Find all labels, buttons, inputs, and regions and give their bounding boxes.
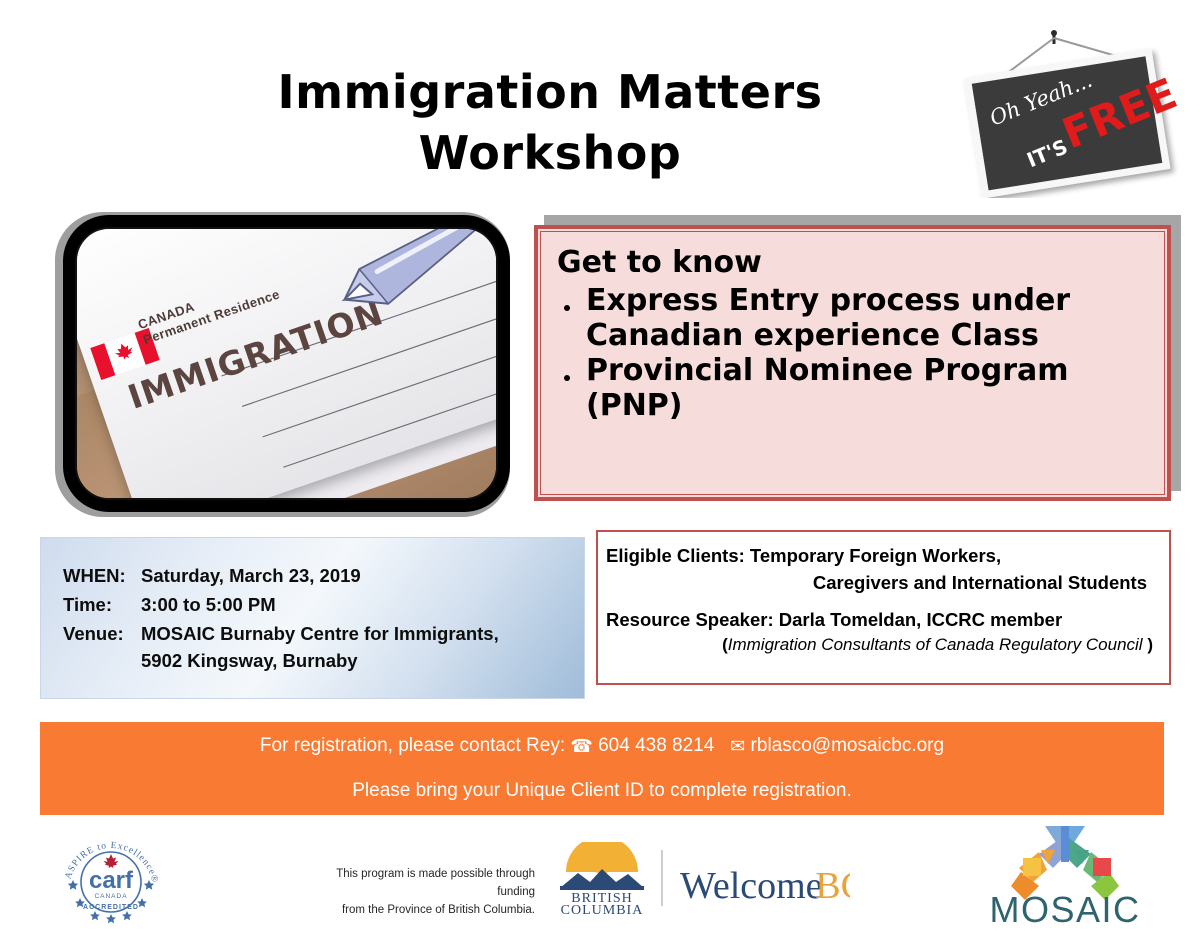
funding-statement: This program is made possible through fu… [300, 866, 535, 919]
carf-country: CANADA [94, 893, 127, 900]
free-tag-sign: Oh Yeah... IT'S FREE [958, 18, 1180, 198]
funding-line-1: This program is made possible through fu… [300, 866, 535, 902]
spacer [606, 597, 1159, 606]
event-when-value: Saturday, March 23, 2019 [141, 561, 584, 590]
eligibility-box: Eligible Clients: Temporary Foreign Work… [596, 530, 1171, 685]
speaker-expansion-line: (Immigration Consultants of Canada Regul… [606, 633, 1159, 657]
envelope-icon: ✉ [730, 736, 745, 756]
mosaic-logo: MOSAIC [965, 824, 1165, 928]
mosaic-wordmark: MOSAIC [989, 889, 1140, 928]
bc-line-2: COLUMBIA [561, 903, 644, 914]
registration-email[interactable]: rblasco@mosaicbc.org [751, 735, 945, 756]
carf-status: ACCREDITED [83, 904, 139, 911]
resource-speaker-line: Resource Speaker: Darla Tomeldan, ICCRC … [606, 606, 1159, 633]
carf-logo: ASPIRE to Excellence® carf CANADA ACCRED… [55, 832, 167, 924]
bullet-2-line-2: (PNP) [586, 388, 683, 423]
event-venue-value-line2: 5902 Kingsway, Burnaby [141, 648, 584, 675]
eligible-clients-line-2: Caregivers and International Students [606, 569, 1159, 596]
title-line-2: Workshop [180, 123, 920, 184]
registration-banner: For registration, please contact Rey: ☎ … [40, 722, 1164, 815]
registration-contact-prefix: For registration, please contact Rey: [260, 735, 565, 756]
welcomebc-logo: BRITISH COLUMBIA Welcome BC [540, 842, 850, 914]
bullet-1-line-1: Express Entry process under [586, 283, 1070, 318]
immigration-form-photo: CANADA Permanent Residence IMMIGRATION [63, 215, 510, 512]
phone-icon: ☎ [570, 736, 592, 756]
page-title: Immigration Matters Workshop [180, 62, 920, 184]
event-time-label: Time: [63, 590, 141, 619]
info-box-bullet-list: Express Entry process under Canadian exp… [554, 283, 1149, 423]
event-when-label: WHEN: [63, 561, 141, 590]
title-line-1: Immigration Matters [180, 62, 920, 123]
free-sign-icon: Oh Yeah... IT'S FREE [958, 18, 1180, 198]
eligible-clients-line-1: Eligible Clients: Temporary Foreign Work… [606, 542, 1159, 569]
event-time-value: 3:00 to 5:00 PM [141, 590, 584, 619]
registration-contact-line: For registration, please contact Rey: ☎ … [260, 735, 944, 758]
poster-root: Immigration Matters Workshop Oh Yeah... [0, 0, 1200, 928]
paren-close: ) [1147, 635, 1153, 654]
event-time-row: Time: 3:00 to 5:00 PM [63, 590, 584, 619]
event-venue-row: Venue: MOSAIC Burnaby Centre for Immigra… [63, 619, 584, 648]
registration-note: Please bring your Unique Client ID to co… [352, 780, 852, 803]
welcomebc-part-2: BC [815, 865, 850, 907]
list-item: Provincial Nominee Program (PNP) [554, 353, 1149, 423]
info-box: Get to know Express Entry process under … [534, 225, 1171, 501]
event-venue-label: Venue: [63, 619, 141, 648]
registration-phone[interactable]: 604 438 8214 [598, 735, 714, 756]
welcomebc-part-1: Welcome [680, 865, 823, 907]
event-venue-value: MOSAIC Burnaby Centre for Immigrants, [141, 619, 584, 648]
info-box-heading: Get to know [557, 247, 1149, 279]
list-item: Express Entry process under Canadian exp… [554, 283, 1149, 353]
footer: ASPIRE to Excellence® carf CANADA ACCRED… [0, 820, 1200, 928]
speaker-expansion: Immigration Consultants of Canada Regula… [728, 635, 1143, 654]
funding-line-2: from the Province of British Columbia. [300, 902, 535, 920]
event-when-row: WHEN: Saturday, March 23, 2019 [63, 561, 584, 590]
bullet-2-line-1: Provincial Nominee Program [586, 353, 1069, 388]
event-details-box: WHEN: Saturday, March 23, 2019 Time: 3:0… [40, 537, 585, 699]
bc-sun-mountain-icon [560, 842, 644, 890]
carf-wordmark: carf [89, 867, 134, 894]
bullet-1-line-2: Canadian experience Class [586, 318, 1039, 353]
